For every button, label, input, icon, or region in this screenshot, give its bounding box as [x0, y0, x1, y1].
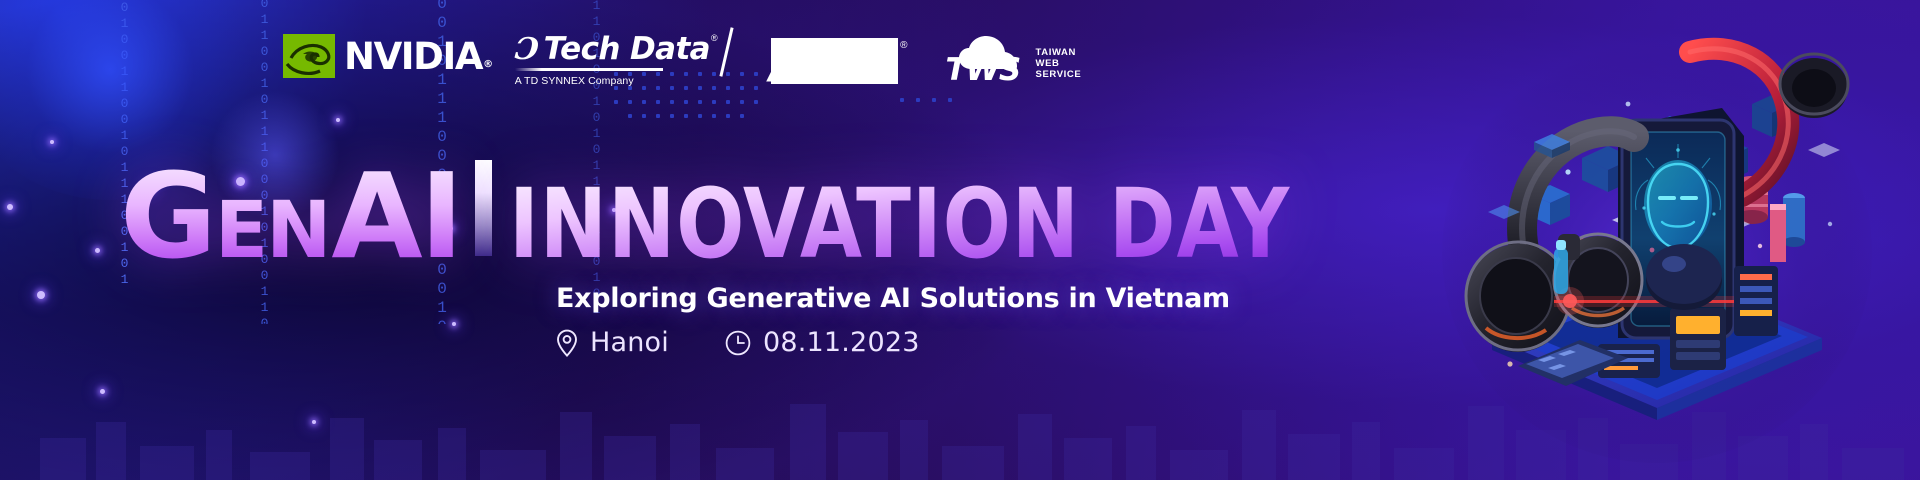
clock-icon	[725, 330, 751, 356]
nvidia-registered-mark: ®	[483, 59, 492, 70]
nvidia-wordmark: NVIDIA®	[344, 38, 491, 75]
genai-letter-g: G	[120, 168, 215, 265]
event-location: Hanoi	[556, 327, 669, 358]
star-dot	[452, 322, 456, 326]
logo-asus: /ISUS ®	[771, 38, 906, 84]
logo-tech-data: Ɔ Tech Data ® A TD SYNNEX Company	[515, 34, 717, 87]
event-date-label: 08.11.2023	[763, 327, 920, 358]
logo-nvidia: NVIDIA®	[283, 34, 491, 78]
tech-data-wordmark-row: Ɔ Tech Data ®	[515, 34, 717, 65]
location-pin-icon	[556, 329, 578, 357]
tws-wordmark: TWS	[946, 55, 1021, 86]
partner-logo-row: NVIDIA® Ɔ Tech Data ® A TD SYNNEX Compan…	[283, 34, 1081, 96]
tws-sub-line-2: WEB	[1036, 58, 1082, 69]
tech-data-tagline: A TD SYNNEX Company	[515, 75, 634, 87]
tech-data-wordmark: Tech Data	[544, 34, 710, 65]
dot-matrix-decoration	[900, 98, 960, 118]
genai-wordmark: G EN AI	[120, 168, 461, 265]
genai-letters-ai: AI	[331, 168, 460, 265]
asus-wordmark: /ISUS	[771, 38, 899, 84]
tech-data-monogram: Ɔ	[514, 35, 540, 65]
dark-disc	[1780, 54, 1848, 118]
innovation-day-title: INNOVATION DAY	[509, 184, 1290, 265]
tech-data-underline	[515, 68, 663, 71]
tws-sub-line-3: SERVICE	[1036, 69, 1082, 80]
event-meta-row: Hanoi 08.11.2023	[556, 327, 920, 358]
event-location-label: Hanoi	[590, 327, 669, 358]
genai-letters-en: EN	[215, 200, 330, 264]
event-subtitle: Exploring Generative AI Solutions in Vie…	[556, 283, 1230, 314]
star-dot	[95, 248, 100, 253]
page-title: G EN AI INNOVATION DAY	[120, 160, 1349, 265]
genai-innovation-day-banner: 0010011001011100101 10110010111000101001…	[0, 0, 1920, 480]
tws-sub-lines: TAIWAN WEB SERVICE	[1036, 47, 1082, 84]
dark-sphere	[1646, 244, 1722, 310]
logo-tws: TWS TAIWAN WEB SERVICE	[944, 36, 1082, 84]
star-dot	[336, 118, 340, 122]
star-dot	[37, 291, 45, 299]
nvidia-eye-icon	[283, 34, 335, 78]
event-date: 08.11.2023	[725, 327, 920, 358]
tech-data-registered-mark: ®	[711, 33, 718, 43]
star-dot	[312, 420, 316, 424]
title-divider-bar	[475, 160, 492, 256]
star-dot	[100, 389, 105, 394]
star-dot	[7, 204, 13, 210]
isometric-ai-tech-illustration	[1422, 8, 1892, 478]
star-dot	[50, 140, 54, 144]
tech-data-slash-accent	[719, 27, 733, 76]
tws-mark: TWS	[944, 36, 1030, 84]
asus-registered-mark: ®	[900, 40, 907, 51]
tws-sub-line-1: TAIWAN	[1036, 47, 1082, 58]
